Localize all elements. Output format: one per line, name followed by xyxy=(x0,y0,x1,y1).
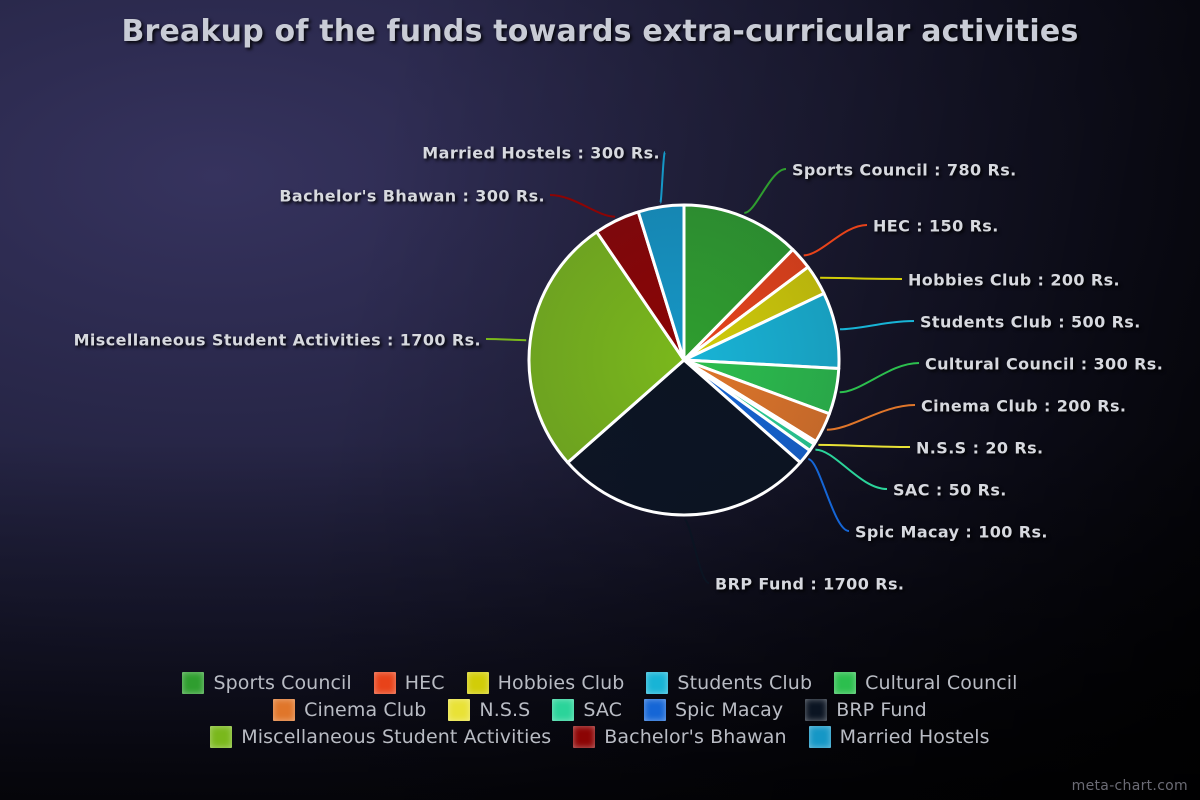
annotation-sac: SAC : 50 Rs. xyxy=(893,481,1007,500)
annotation-brp-fund: BRP Fund : 1700 Rs. xyxy=(715,575,904,594)
legend-item-hec[interactable]: HEC xyxy=(374,672,445,694)
legend-swatch-bachelor-s-bhawan xyxy=(573,726,595,748)
legend-swatch-n-s-s xyxy=(448,699,470,721)
legend-swatch-hec xyxy=(374,672,396,694)
legend-label-hec: HEC xyxy=(405,672,445,694)
annotation-sports-council: Sports Council : 780 Rs. xyxy=(792,161,1017,180)
legend-label-married-hostels: Married Hostels xyxy=(840,726,990,748)
annotation-hobbies-club: Hobbies Club : 200 Rs. xyxy=(908,271,1120,290)
legend-item-sac[interactable]: SAC xyxy=(552,699,622,721)
legend-item-brp-fund[interactable]: BRP Fund xyxy=(805,699,927,721)
annotation-hec: HEC : 150 Rs. xyxy=(873,217,999,236)
legend-item-n-s-s[interactable]: N.S.S xyxy=(448,699,530,721)
legend-swatch-cinema-club xyxy=(273,699,295,721)
legend-swatch-brp-fund xyxy=(805,699,827,721)
legend-row-3: Miscellaneous Student ActivitiesBachelor… xyxy=(210,726,989,748)
legend-row-1: Sports CouncilHECHobbies ClubStudents Cl… xyxy=(182,672,1017,694)
annotation-cinema-club: Cinema Club : 200 Rs. xyxy=(921,397,1126,416)
legend-label-brp-fund: BRP Fund xyxy=(836,699,927,721)
leader-line-cultural-council xyxy=(840,363,919,392)
legend-item-hobbies-club[interactable]: Hobbies Club xyxy=(467,672,625,694)
leader-line-married-hostels xyxy=(660,152,665,203)
annotation-bachelors-bhawan: Bachelor's Bhawan : 300 Rs. xyxy=(279,187,545,206)
legend-item-students-club[interactable]: Students Club xyxy=(646,672,812,694)
legend-swatch-students-club xyxy=(646,672,668,694)
annotation-students-club: Students Club : 500 Rs. xyxy=(920,313,1141,332)
legend-row-2: Cinema ClubN.S.SSACSpic MacayBRP Fund xyxy=(273,699,927,721)
legend-label-n-s-s: N.S.S xyxy=(479,699,530,721)
legend-label-miscellaneous-student-activities: Miscellaneous Student Activities xyxy=(241,726,551,748)
legend-label-sports-council: Sports Council xyxy=(213,672,351,694)
leader-line-sports-council xyxy=(744,169,786,213)
legend-item-bachelor-s-bhawan[interactable]: Bachelor's Bhawan xyxy=(573,726,786,748)
legend-label-cinema-club: Cinema Club xyxy=(304,699,426,721)
chart-title: Breakup of the funds towards extra-curri… xyxy=(0,14,1200,49)
leader-line-cinema-club xyxy=(827,405,915,430)
legend-item-married-hostels[interactable]: Married Hostels xyxy=(809,726,990,748)
pie-slices xyxy=(529,205,839,515)
leader-line-students-club xyxy=(840,321,914,329)
leader-line-n-s-s xyxy=(818,445,910,447)
leader-line-spic-macay xyxy=(808,459,849,531)
legend-label-students-club: Students Club xyxy=(677,672,812,694)
annotation-married-hostels: Married Hostels : 300 Rs. xyxy=(422,144,660,163)
legend-label-cultural-council: Cultural Council xyxy=(865,672,1017,694)
annotation-cultural-council: Cultural Council : 300 Rs. xyxy=(925,355,1163,374)
legend-swatch-cultural-council xyxy=(834,672,856,694)
legend-item-cinema-club[interactable]: Cinema Club xyxy=(273,699,426,721)
legend-swatch-sports-council xyxy=(182,672,204,694)
chart-canvas: Breakup of the funds towards extra-curri… xyxy=(0,0,1200,800)
chart-legend: Sports CouncilHECHobbies ClubStudents Cl… xyxy=(0,672,1200,748)
legend-swatch-miscellaneous-student-activities xyxy=(210,726,232,748)
annotation-miscellaneous: Miscellaneous Student Activities : 1700 … xyxy=(74,331,481,350)
legend-item-cultural-council[interactable]: Cultural Council xyxy=(834,672,1017,694)
legend-swatch-spic-macay xyxy=(644,699,666,721)
legend-label-bachelor-s-bhawan: Bachelor's Bhawan xyxy=(604,726,786,748)
annotation-nss: N.S.S : 20 Rs. xyxy=(916,439,1044,458)
legend-swatch-sac xyxy=(552,699,574,721)
legend-swatch-married-hostels xyxy=(809,726,831,748)
annotation-spic-macay: Spic Macay : 100 Rs. xyxy=(855,523,1048,542)
legend-label-spic-macay: Spic Macay xyxy=(675,699,783,721)
legend-label-sac: SAC xyxy=(583,699,622,721)
leader-line-miscellaneous-student-activities xyxy=(486,339,526,340)
leader-line-bachelor-s-bhawan xyxy=(550,195,615,217)
watermark: meta-chart.com xyxy=(1072,778,1188,794)
leader-line-hec xyxy=(804,225,867,255)
legend-item-miscellaneous-student-activities[interactable]: Miscellaneous Student Activities xyxy=(210,726,551,748)
legend-label-hobbies-club: Hobbies Club xyxy=(498,672,625,694)
leader-line-hobbies-club xyxy=(820,278,902,279)
leader-line-brp-fund xyxy=(684,519,709,583)
legend-swatch-hobbies-club xyxy=(467,672,489,694)
legend-item-spic-macay[interactable]: Spic Macay xyxy=(644,699,783,721)
leader-line-sac xyxy=(815,450,887,489)
legend-item-sports-council[interactable]: Sports Council xyxy=(182,672,351,694)
